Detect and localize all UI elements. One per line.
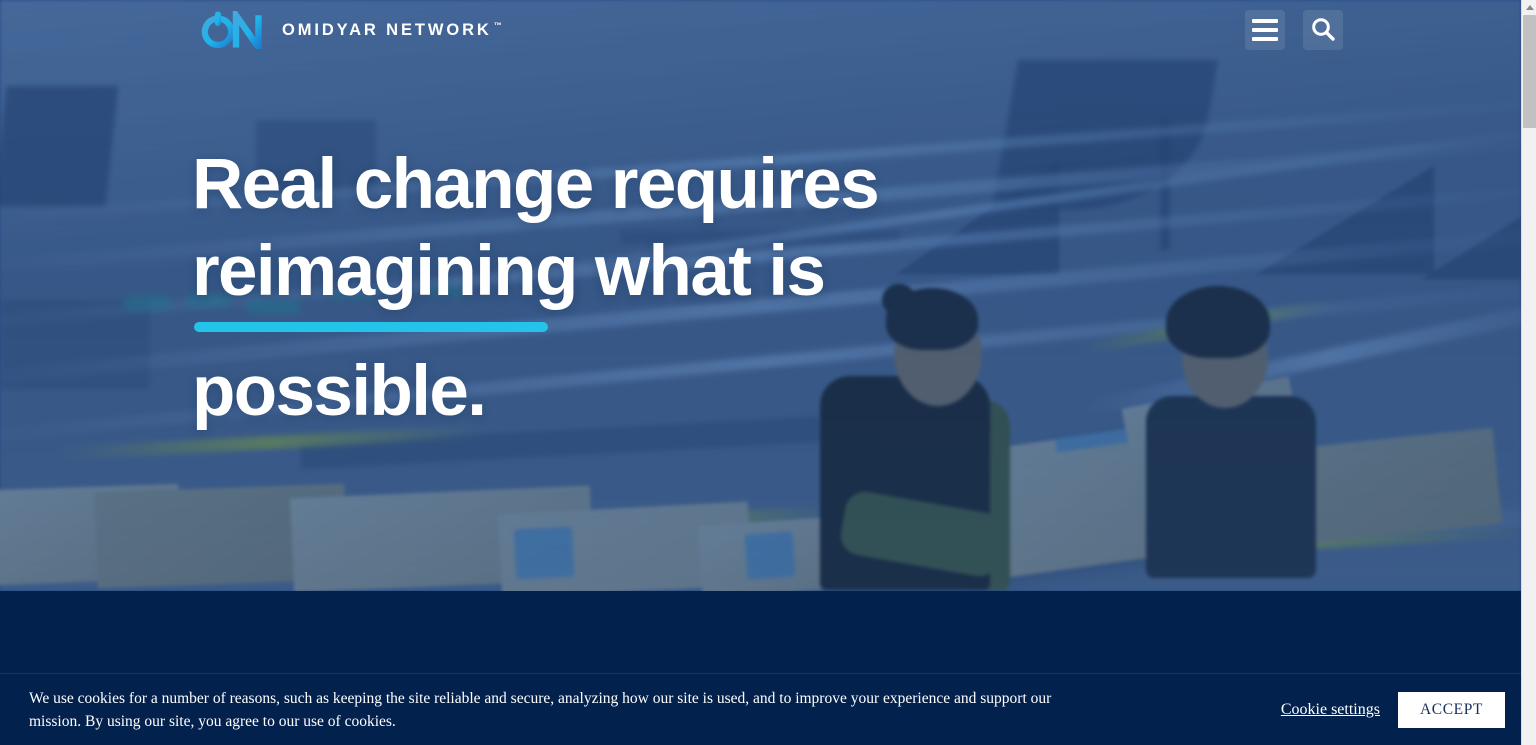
site-header: OMIDYAR NETWORK™	[0, 0, 1521, 60]
hero-title-line-2: reimagining what is	[192, 228, 1052, 315]
page-content: Real change requires reimagining what is…	[0, 0, 1521, 745]
brand-logo-link[interactable]: OMIDYAR NETWORK™	[196, 11, 502, 49]
hero-title-line-3: possible.	[192, 348, 1052, 435]
browser-viewport: Real change requires reimagining what is…	[0, 0, 1536, 745]
hero-text-block: Real change requires reimagining what is…	[192, 141, 1052, 435]
hero-section: Real change requires reimagining what is…	[0, 0, 1521, 591]
hamburger-menu-icon	[1252, 19, 1278, 41]
cookie-accept-button[interactable]: ACCEPT	[1398, 692, 1505, 728]
page-title-continued: possible.	[192, 348, 1052, 435]
cookie-banner-actions: Cookie settings ACCEPT	[1281, 692, 1505, 728]
cookie-message: We use cookies for a number of reasons, …	[29, 687, 1069, 733]
brand-name: OMIDYAR NETWORK™	[282, 21, 502, 40]
page-title: Real change requires reimagining what is	[192, 141, 1052, 315]
header-actions	[1245, 10, 1343, 50]
hero-title-line-1: Real change requires	[192, 141, 1052, 228]
vertical-scrollbar[interactable]	[1521, 0, 1536, 745]
trademark-symbol: ™	[494, 21, 502, 30]
cookie-consent-banner: We use cookies for a number of reasons, …	[0, 673, 1521, 745]
search-button[interactable]	[1303, 10, 1343, 50]
cookie-settings-link[interactable]: Cookie settings	[1281, 701, 1380, 719]
power-button-on-logo-icon	[196, 11, 268, 49]
hero-accent-rule	[194, 322, 548, 332]
search-icon	[1310, 16, 1336, 45]
scroll-up-arrow-icon[interactable]	[1522, 0, 1536, 14]
vertical-scroll-thumb[interactable]	[1523, 15, 1536, 128]
menu-button[interactable]	[1245, 10, 1285, 50]
